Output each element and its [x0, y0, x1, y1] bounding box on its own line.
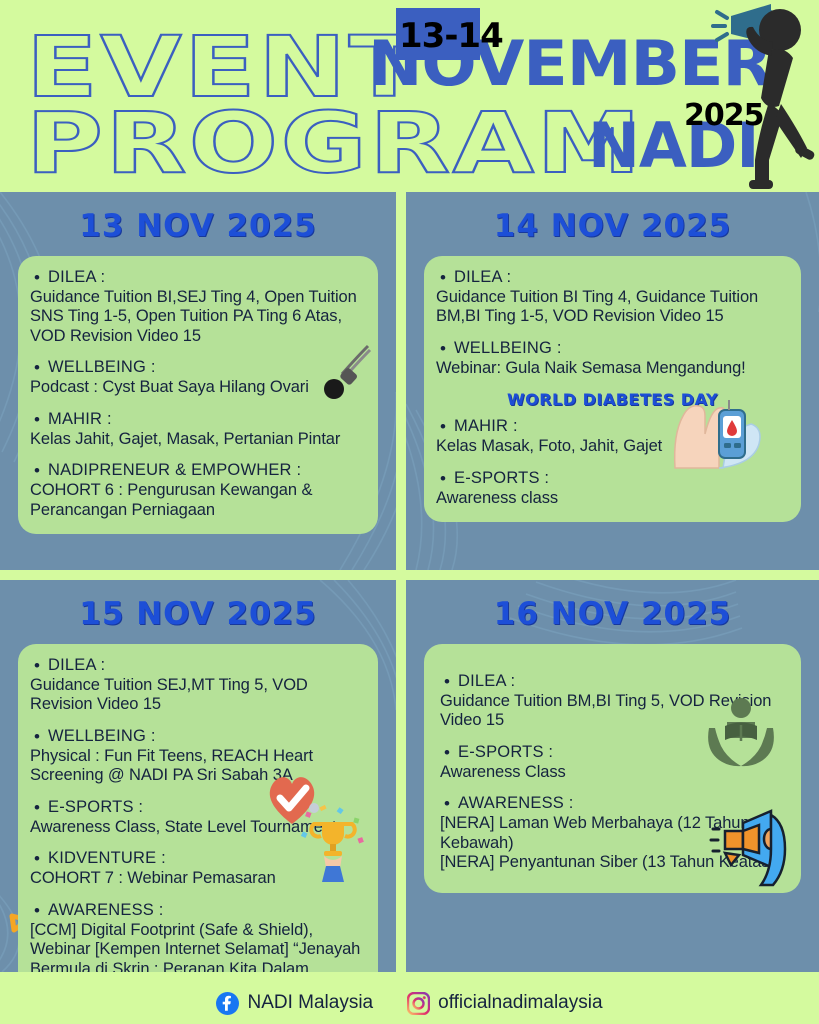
day-title-14-nov: 14 NOV 2025	[406, 208, 819, 244]
day-panel-16-nov: 16 NOV 2025	[406, 580, 819, 972]
section-awareness: AWARENESS : [NERA] Laman Web Merbahaya (…	[440, 794, 787, 872]
instagram-link[interactable]: officialnadimalaysia	[407, 992, 602, 1015]
section-mahir: MAHIR : Kelas Jahit, Gajet, Masak, Perta…	[30, 410, 366, 449]
section-head: E-SPORTS :	[436, 469, 789, 488]
section-dilea: DILEA : Guidance Tuition SEJ,MT Ting 5, …	[30, 656, 366, 715]
facebook-icon	[216, 992, 239, 1015]
day-card-15-nov: DILEA : Guidance Tuition SEJ,MT Ting 5, …	[18, 644, 378, 972]
section-body: [NERA] Laman Web Merbahaya (12 Tahun Keb…	[440, 814, 787, 872]
section-awareness: AWARENESS : [CCM] Digital Footprint (Saf…	[30, 901, 366, 972]
section-body: Podcast : Cyst Buat Saya Hilang Ovari	[30, 378, 366, 397]
instagram-icon	[407, 992, 430, 1015]
section-body: Guidance Tuition BI,SEJ Ting 4, Open Tui…	[30, 288, 366, 346]
section-head: WELLBEING :	[30, 727, 366, 746]
section-body: Webinar: Gula Naik Semasa Mengandung!	[436, 359, 789, 378]
section-body: COHORT 7 : Webinar Pemasaran	[30, 869, 366, 888]
poster-footer: NADI Malaysia officialnadimalaysia	[0, 982, 819, 1024]
section-wellbeing: WELLBEING : Podcast : Cyst Buat Saya Hil…	[30, 358, 366, 397]
section-esports: E-SPORTS : Awareness Class	[440, 743, 787, 782]
section-head: DILEA :	[30, 268, 366, 287]
section-head: NADIPRENEUR & EMPOWHER :	[30, 461, 366, 480]
day-card-16-nov: DILEA : Guidance Tuition BM,BI Ting 5, V…	[424, 644, 801, 893]
page-title-line2: PROGRAM	[26, 104, 643, 184]
event-program-poster: EVENT PROGRAM NOVEMBER NADI 13-14 2025	[0, 0, 819, 1024]
poster-header: EVENT PROGRAM NOVEMBER NADI 13-14 2025	[0, 0, 819, 192]
section-wellbeing: WELLBEING : Physical : Fun Fit Teens, RE…	[30, 727, 366, 786]
day-panel-15-nov: 15 NOV 2025	[0, 580, 396, 972]
section-head: E-SPORTS :	[440, 743, 787, 762]
section-body: [CCM] Digital Footprint (Safe & Shield),…	[30, 921, 366, 972]
megaphone-person-icon	[697, 2, 815, 190]
section-head: AWARENESS :	[30, 901, 366, 920]
section-kidventure: KIDVENTURE : COHORT 7 : Webinar Pemasara…	[30, 849, 366, 888]
section-head: E-SPORTS :	[30, 798, 366, 817]
day-panel-14-nov: 14 NOV 2025 DILEA : Guidance Tuition BI …	[406, 192, 819, 570]
section-body: Guidance Tuition BM,BI Ting 5, VOD Revis…	[440, 692, 787, 731]
section-wellbeing: WELLBEING : Webinar: Gula Naik Semasa Me…	[436, 339, 789, 378]
section-body: Physical : Fun Fit Teens, REACH Heart Sc…	[30, 747, 366, 786]
section-head: DILEA :	[30, 656, 366, 675]
section-esports: E-SPORTS : Awareness Class, State Level …	[30, 798, 366, 837]
facebook-link[interactable]: NADI Malaysia	[216, 992, 373, 1015]
section-nadipreneur-empowher: NADIPRENEUR & EMPOWHER : COHORT 6 : Peng…	[30, 461, 366, 520]
day-title-13-nov: 13 NOV 2025	[0, 208, 396, 244]
section-body: Awareness class	[436, 489, 789, 508]
section-body: Awareness Class	[440, 763, 787, 782]
section-body: Awareness Class, State Level Tournament	[30, 818, 366, 837]
world-diabetes-day-label: WORLD DIABETES DAY	[436, 390, 789, 409]
section-head: KIDVENTURE :	[30, 849, 366, 868]
section-head: WELLBEING :	[436, 339, 789, 358]
section-head: DILEA :	[436, 268, 789, 287]
section-body: Guidance Tuition BI Ting 4, Guidance Tui…	[436, 288, 789, 327]
instagram-handle: officialnadimalaysia	[438, 992, 602, 1014]
day-title-15-nov: 15 NOV 2025	[0, 596, 396, 632]
day-card-13-nov: DILEA : Guidance Tuition BI,SEJ Ting 4, …	[18, 256, 378, 534]
section-body: Kelas Masak, Foto, Jahit, Gajet	[436, 437, 789, 456]
dates-badge: 13-14	[399, 16, 503, 56]
day-panel-13-nov: 13 NOV 2025 DILEA : Guidance Tuition BI,…	[0, 192, 396, 570]
section-head: WELLBEING :	[30, 358, 366, 377]
section-body: COHORT 6 : Pengurusan Kewangan & Peranca…	[30, 481, 366, 520]
facebook-handle: NADI Malaysia	[247, 992, 373, 1014]
section-body: Kelas Jahit, Gajet, Masak, Pertanian Pin…	[30, 430, 366, 449]
section-head: MAHIR :	[30, 410, 366, 429]
section-esports: E-SPORTS : Awareness class	[436, 469, 789, 508]
day-title-16-nov: 16 NOV 2025	[406, 596, 819, 632]
section-dilea: DILEA : Guidance Tuition BI Ting 4, Guid…	[436, 268, 789, 327]
days-grid: 13 NOV 2025 DILEA : Guidance Tuition BI,…	[0, 192, 819, 982]
day-card-14-nov: DILEA : Guidance Tuition BI Ting 4, Guid…	[424, 256, 801, 522]
section-dilea: DILEA : Guidance Tuition BM,BI Ting 5, V…	[440, 672, 787, 731]
section-head: AWARENESS :	[440, 794, 787, 813]
section-mahir: MAHIR : Kelas Masak, Foto, Jahit, Gajet	[436, 417, 789, 456]
section-body: Guidance Tuition SEJ,MT Ting 5, VOD Revi…	[30, 676, 366, 715]
section-head: MAHIR :	[436, 417, 789, 436]
section-head: DILEA :	[440, 672, 787, 691]
section-dilea: DILEA : Guidance Tuition BI,SEJ Ting 4, …	[30, 268, 366, 346]
